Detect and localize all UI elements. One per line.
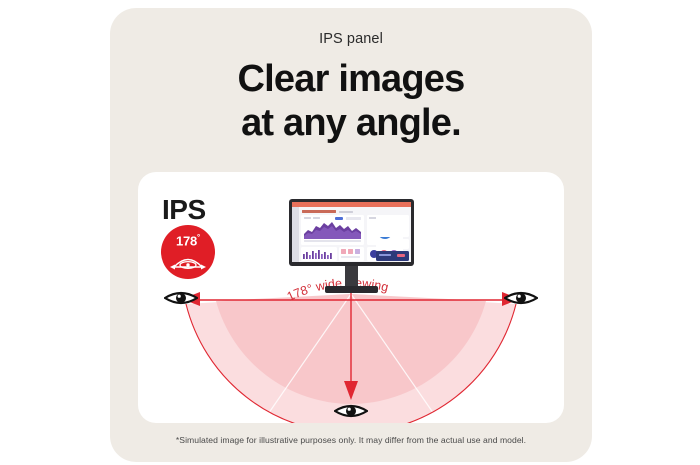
- front-viewer-eye-icon: [334, 400, 368, 422]
- panel-stat-chips: [339, 247, 364, 261]
- right-viewer-eye-icon: [504, 287, 538, 309]
- stat-chip-1: [341, 249, 346, 254]
- headline-line-2: at any angle.: [110, 101, 592, 145]
- monitor-base: [325, 286, 378, 293]
- dashboard-header-bar: [292, 202, 411, 207]
- chart-tab-2: [313, 217, 320, 219]
- dashboard-screen: [292, 202, 411, 262]
- dashboard-title: [302, 210, 336, 213]
- eyebrow-label: IPS panel: [110, 31, 592, 47]
- monitor-neck: [345, 266, 358, 288]
- viewing-angle-badge: 178°: [161, 225, 215, 279]
- badge-degree-symbol: °: [197, 233, 200, 242]
- panel-mini-bars: [376, 215, 409, 237]
- panel-promo: [376, 251, 409, 261]
- stat-chip-label: [341, 256, 360, 258]
- panel-bar-chart: [301, 247, 337, 261]
- promo-button[interactable]: [397, 254, 405, 258]
- dashboard-ui: [292, 202, 411, 262]
- panel-area-chart: [301, 215, 364, 245]
- disclaimer-text: *Simulated image for illustrative purpos…: [110, 435, 592, 445]
- monitor: [289, 199, 414, 294]
- viewing-angle-arc-icon: [170, 253, 206, 271]
- panel-table: [376, 239, 409, 249]
- page-title: Clear images at any angle.: [110, 57, 592, 145]
- headline-line-1: Clear images: [110, 57, 592, 101]
- area-chart: [304, 221, 361, 239]
- left-viewer-eye-icon: [164, 287, 198, 309]
- stat-chip-2: [348, 249, 353, 254]
- bar-chart: [303, 250, 335, 259]
- dashboard-subtitle: [339, 211, 353, 213]
- badge-value: 178: [176, 233, 197, 248]
- illustration-card: 178° wide viewing IPS 178°: [138, 172, 564, 423]
- promo-line: [379, 254, 391, 256]
- chart-toggle[interactable]: [335, 217, 343, 220]
- dashboard-sidebar: [292, 207, 299, 262]
- chart-legend: [346, 217, 361, 220]
- stat-chip-3: [355, 249, 360, 254]
- chart-tab-1: [304, 217, 311, 219]
- ips-label: IPS: [162, 194, 206, 226]
- screenshot-root: IPS panel Clear images at any angle.: [0, 0, 700, 465]
- chart-axis: [304, 240, 361, 242]
- badge-value-row: 178°: [161, 233, 215, 248]
